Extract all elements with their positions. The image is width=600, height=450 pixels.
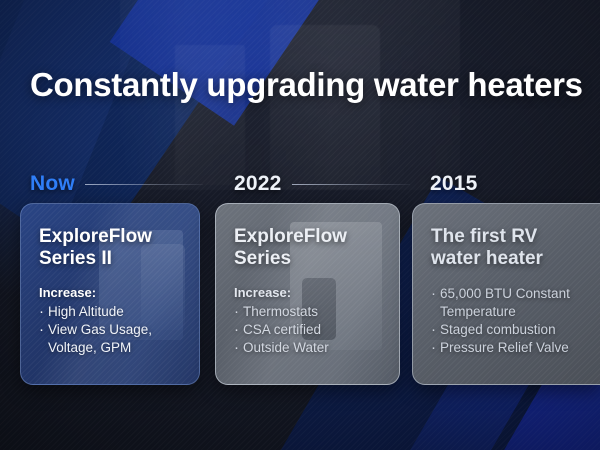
- list-item: 65,000 BTU Constant: [431, 285, 582, 303]
- list-item: Pressure Relief Valve: [431, 339, 582, 357]
- timeline-cards: ExploreFlow Series II Increase: High Alt…: [0, 203, 600, 385]
- card-bullets-2015: 65,000 BTU Constant Temperature Staged c…: [431, 285, 582, 357]
- card-section-label-2022: Increase:: [234, 285, 381, 300]
- timeline-card-now[interactable]: ExploreFlow Series II Increase: High Alt…: [20, 203, 200, 385]
- timeline-connector-now: [85, 184, 203, 185]
- card-bullets-now: High Altitude View Gas Usage, Voltage, G…: [39, 303, 181, 357]
- list-item: Thermostats: [234, 303, 381, 321]
- card-title-2015: The first RV water heater: [431, 226, 582, 271]
- list-item: Voltage, GPM: [39, 339, 181, 357]
- card-content-now: ExploreFlow Series II Increase: High Alt…: [39, 226, 181, 357]
- timeline-card-2015[interactable]: The first RV water heater 65,000 BTU Con…: [412, 203, 600, 385]
- timeline-card-2022[interactable]: ExploreFlow Series Increase: Thermostats…: [215, 203, 400, 385]
- page-title: Constantly upgrading water heaters: [30, 66, 590, 104]
- list-item: CSA certified: [234, 321, 381, 339]
- card-title-now: ExploreFlow Series II: [39, 226, 181, 271]
- timeline-label-2015: 2015: [430, 172, 478, 196]
- timeline-connector-2022: [292, 184, 410, 185]
- list-item: Staged combustion: [431, 321, 582, 339]
- slide-canvas: Constantly upgrading water heaters Now 2…: [0, 0, 600, 450]
- card-content-2022: ExploreFlow Series Increase: Thermostats…: [234, 226, 381, 357]
- card-content-2015: The first RV water heater 65,000 BTU Con…: [431, 226, 582, 357]
- card-section-label-now: Increase:: [39, 285, 181, 300]
- list-item: Outside Water: [234, 339, 381, 357]
- timeline-label-now-text: Now: [30, 172, 75, 196]
- timeline-labels: Now 2022 2015: [0, 172, 600, 200]
- list-item: Temperature: [431, 303, 582, 321]
- list-item: View Gas Usage,: [39, 321, 181, 339]
- timeline-label-2022-text: 2022: [234, 172, 282, 196]
- timeline-label-2022: 2022: [234, 172, 410, 196]
- timeline-label-now: Now: [30, 172, 203, 196]
- card-title-2022: ExploreFlow Series: [234, 226, 381, 271]
- timeline-label-2015-text: 2015: [430, 172, 478, 196]
- list-item: High Altitude: [39, 303, 181, 321]
- card-bullets-2022: Thermostats CSA certified Outside Water: [234, 303, 381, 357]
